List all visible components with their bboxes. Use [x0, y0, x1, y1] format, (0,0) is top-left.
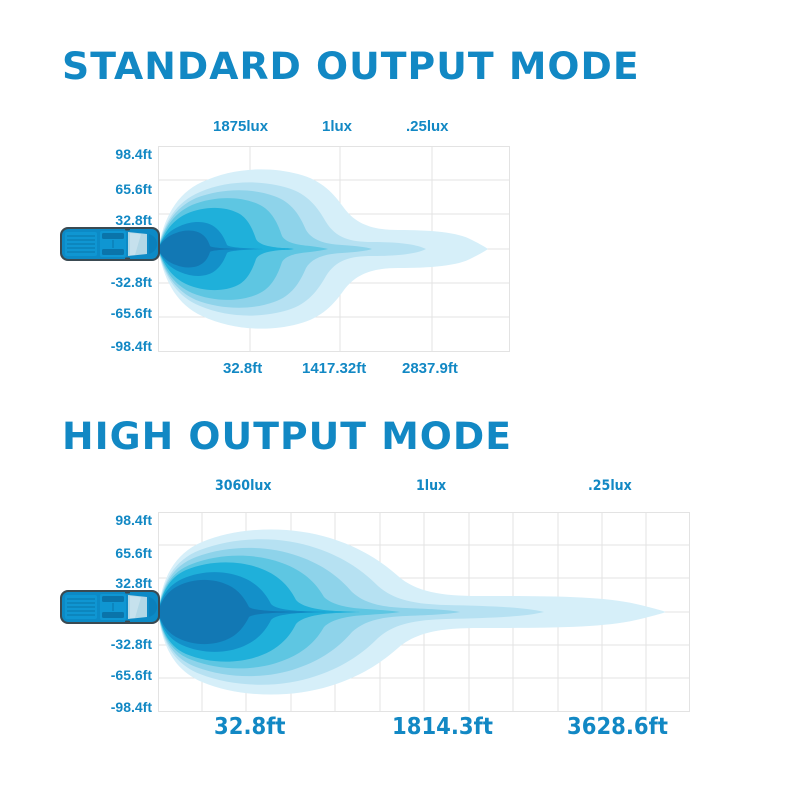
y-tick-neg-65-6-high: -65.6ft [111, 667, 152, 683]
lux-label-025-high: .25lux [588, 478, 632, 494]
y-tick-neg-98-4-high: -98.4ft [111, 699, 152, 715]
y-tick-neg-32-8-high: -32.8ft [111, 636, 152, 652]
x-tick-3628-6: 3628.6ft [567, 714, 668, 740]
x-tick-1417-32: 1417.32ft [302, 360, 366, 377]
page-title-high: HIGH OUTPUT MODE [62, 415, 512, 458]
beam-chart-standard [158, 146, 510, 352]
beam-pattern-infographic: STANDARD OUTPUT MODE 1875lux 1lux .25lux… [0, 0, 800, 800]
x-axis-standard: 32.8ft 1417.32ft 2837.9ft [0, 360, 800, 386]
x-tick-32-8-high: 32.8ft [214, 714, 286, 740]
lux-label-row-standard: 1875lux 1lux .25lux [0, 118, 800, 138]
y-tick-neg-65-6: -65.6ft [111, 305, 152, 321]
chart-grid-standard [158, 146, 510, 352]
y-tick-65-6: 65.6ft [115, 181, 152, 197]
y-tick-neg-32-8: -32.8ft [111, 274, 152, 290]
x-tick-32-8: 32.8ft [223, 360, 262, 377]
lux-label-025: .25lux [406, 118, 449, 135]
y-tick-neg-98-4: -98.4ft [111, 338, 152, 354]
y-tick-98-4-high: 98.4ft [115, 512, 152, 528]
y-tick-65-6-high: 65.6ft [115, 545, 152, 561]
chart-grid-high [158, 512, 690, 712]
page-title-standard: STANDARD OUTPUT MODE [62, 45, 640, 88]
lux-label-1-high: 1lux [416, 478, 446, 494]
x-axis-high: 32.8ft 1814.3ft 3628.6ft [0, 714, 800, 740]
y-tick-98-4: 98.4ft [115, 146, 152, 162]
lux-label-1: 1lux [322, 118, 352, 135]
lux-label-1875: 1875lux [213, 118, 268, 135]
lux-label-row-high: 3060lux 1lux .25lux [0, 478, 800, 498]
beam-chart-high [158, 512, 690, 712]
truck-icon-standard [57, 222, 165, 266]
x-tick-2837-9: 2837.9ft [402, 360, 458, 377]
lux-label-3060: 3060lux [215, 478, 271, 494]
truck-icon-high [57, 585, 165, 629]
x-tick-1814-3: 1814.3ft [392, 714, 493, 740]
